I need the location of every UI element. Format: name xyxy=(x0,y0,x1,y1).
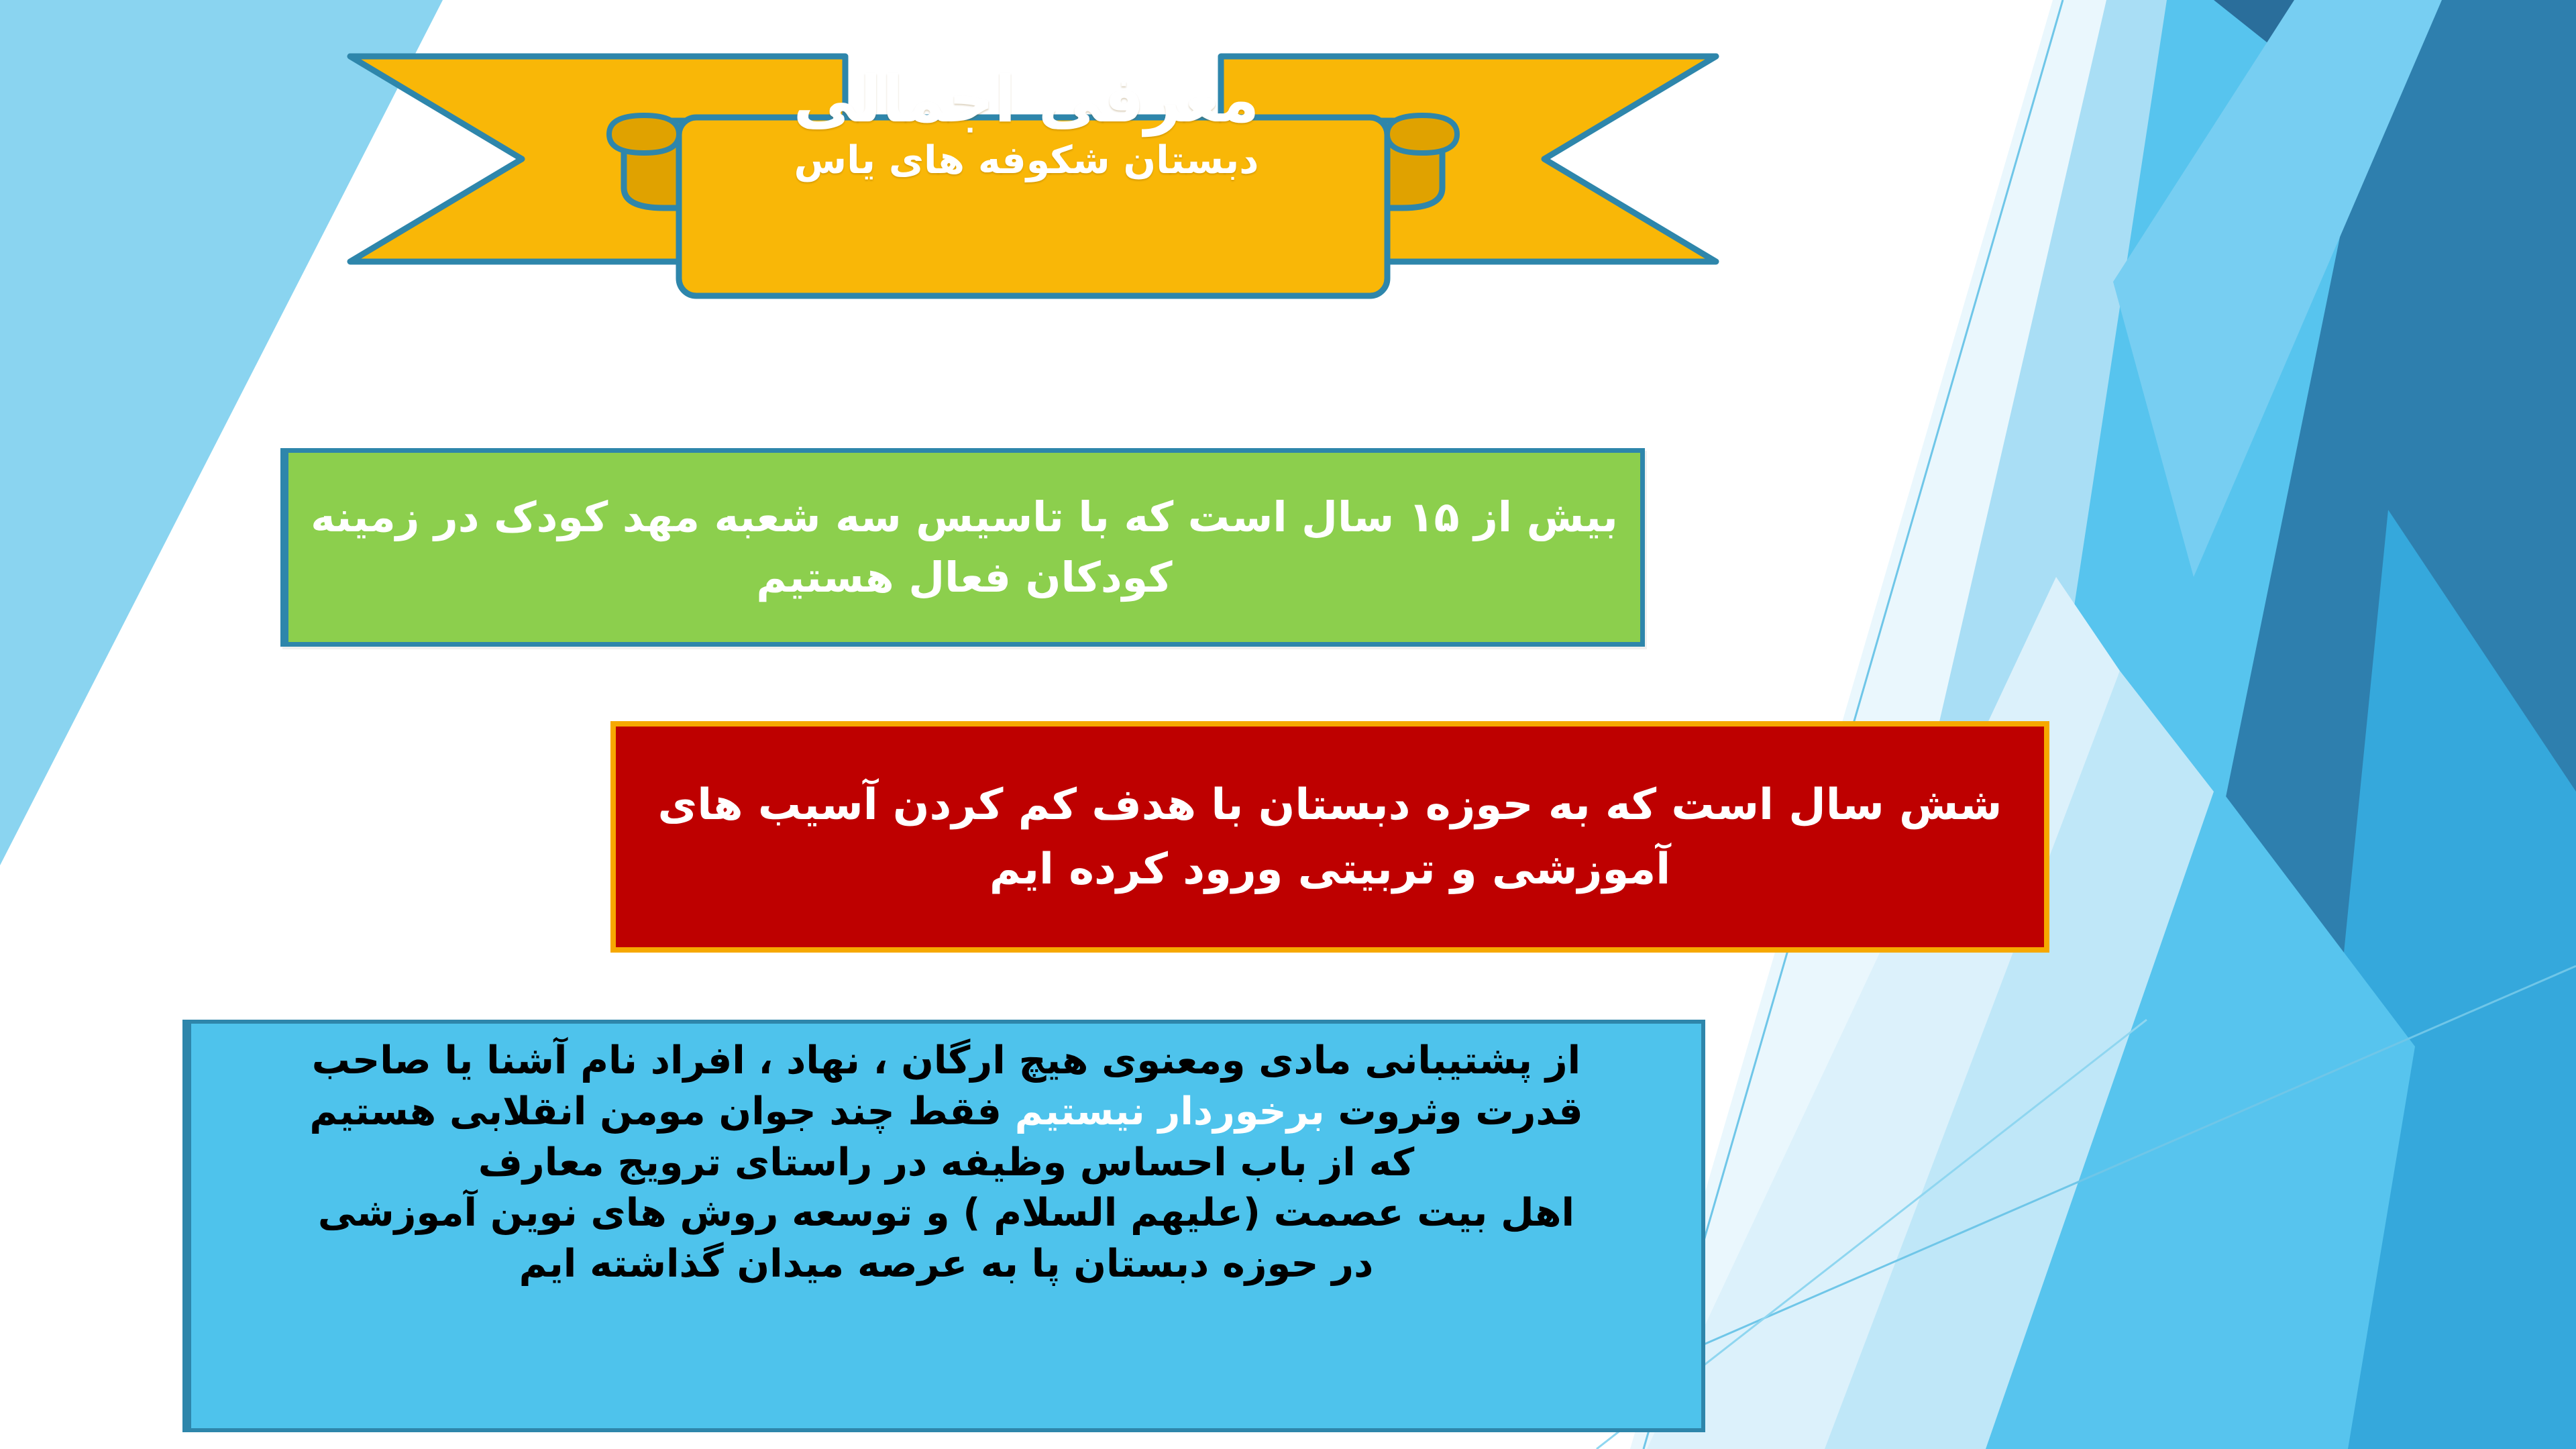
blue-seg-5-1: در حوزه دبستان پا به عرصه میدان گذاشته ا… xyxy=(519,1242,1374,1286)
right-band-mid-2 xyxy=(2294,510,2576,1449)
right-band-deep-1 xyxy=(2214,0,2576,657)
right-band-pale-3 xyxy=(1647,577,2120,1449)
content-box-blue: از پشتیبانی مادی ومعنوی هیچ ارگان ، نهاد… xyxy=(182,1020,1705,1432)
blue-line-1: از پشتیبانی مادی ومعنوی هیچ ارگان ، نهاد… xyxy=(191,1036,1701,1087)
blue-line-4: اهل بیت عصمت (علیهم السلام ) و توسعه روش… xyxy=(191,1188,1701,1239)
blue-seg-1-1: از پشتیبانی مادی ومعنوی هیچ ارگان ، نهاد… xyxy=(312,1038,1580,1083)
blue-seg-3-1: که از باب احساس وظیفه در راستای ترویج مع… xyxy=(478,1140,1415,1185)
content-box-green-text: بیش از ۱۵ سال است که با تاسیس سه شعبه مه… xyxy=(288,487,1640,608)
ribbon-right-fold-lip xyxy=(1387,115,1457,153)
blue-line-5: در حوزه دبستان پا به عرصه میدان گذاشته ا… xyxy=(191,1239,1701,1290)
content-box-red: شش سال است که به حوزه دبستان با هدف کم ک… xyxy=(610,721,2049,953)
ribbon-center-plate xyxy=(679,117,1387,296)
content-box-blue-lines: از پشتیبانی مادی ومعنوی هیچ ارگان ، نهاد… xyxy=(191,1036,1701,1290)
blue-seg-2-2: برخوردار نیستیم xyxy=(1002,1089,1325,1134)
blue-line-2: قدرت وثروت برخوردار نیستیم فقط چند جوان … xyxy=(191,1087,1701,1138)
blue-line-3: که از باب احساس وظیفه در راستای ترویج مع… xyxy=(191,1138,1701,1189)
blue-seg-4-1: اهل بیت عصمت (علیهم السلام ) و توسعه روش… xyxy=(318,1191,1574,1235)
ribbon-banner: معرفی اجمالی دبستان شکوفه های یاس xyxy=(335,40,1731,309)
right-band-deep-2 xyxy=(2093,0,2576,1449)
presentation-slide: معرفی اجمالی دبستان شکوفه های یاس بیش از… xyxy=(0,0,2576,1449)
hairline-2 xyxy=(1664,966,2576,1362)
blue-seg-2-3: فقط چند جوان مومن انقلابی هستیم xyxy=(309,1089,1002,1134)
ribbon-left-fold-lip xyxy=(609,115,679,153)
content-box-red-text: شش سال است که به حوزه دبستان با هدف کم ک… xyxy=(616,773,2044,902)
blue-seg-2-1: قدرت وثروت xyxy=(1325,1089,1583,1134)
right-band-accent xyxy=(2113,0,2442,577)
content-box-green: بیش از ۱۵ سال است که با تاسیس سه شعبه مه… xyxy=(280,448,1645,647)
